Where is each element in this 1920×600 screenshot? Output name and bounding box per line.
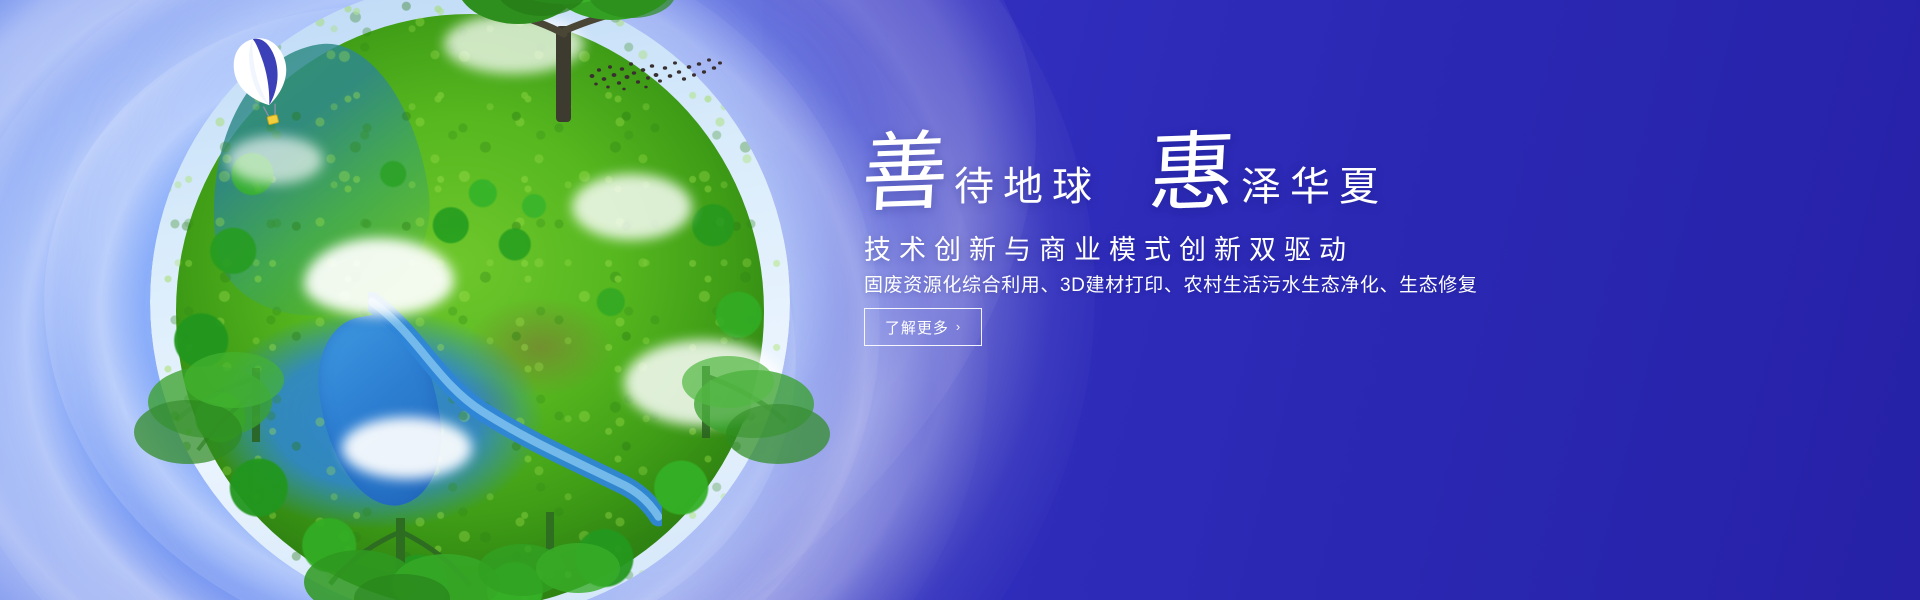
banner-subtitle: 技术创新与商业模式创新双驱动 bbox=[864, 228, 1354, 267]
learn-more-label: 了解更多 bbox=[885, 317, 949, 338]
headline-brush-char-2: 惠 bbox=[1147, 132, 1243, 214]
headline-plain-text-1: 待地球 bbox=[954, 167, 1101, 207]
banner-copy-block: 善 待地球 惠 泽华夏 技术创新与商业模式创新双驱动 固废资源化综合利用、3D建… bbox=[862, 0, 1762, 600]
hot-air-balloon-icon bbox=[232, 34, 292, 134]
learn-more-button[interactable]: 了解更多 › bbox=[864, 308, 982, 346]
right-tree-icon bbox=[650, 282, 860, 502]
bird-flock-icon bbox=[586, 46, 726, 96]
left-tree-icon bbox=[102, 282, 332, 512]
hero-banner: 善 待地球 惠 泽华夏 技术创新与商业模式创新双驱动 固废资源化综合利用、3D建… bbox=[0, 0, 1920, 600]
banner-description: 固废资源化综合利用、3D建材打印、农村生活污水生态净化、生态修复 bbox=[864, 270, 1478, 297]
headline-plain-text-2: 泽华夏 bbox=[1241, 167, 1388, 207]
globe-cloud-6 bbox=[227, 136, 323, 184]
headline-brush-char-1: 善 bbox=[860, 132, 956, 214]
chevron-right-icon: › bbox=[956, 320, 961, 333]
page-title: 善 待地球 惠 泽华夏 bbox=[862, 134, 1388, 213]
globe-cloud-3 bbox=[572, 174, 692, 240]
